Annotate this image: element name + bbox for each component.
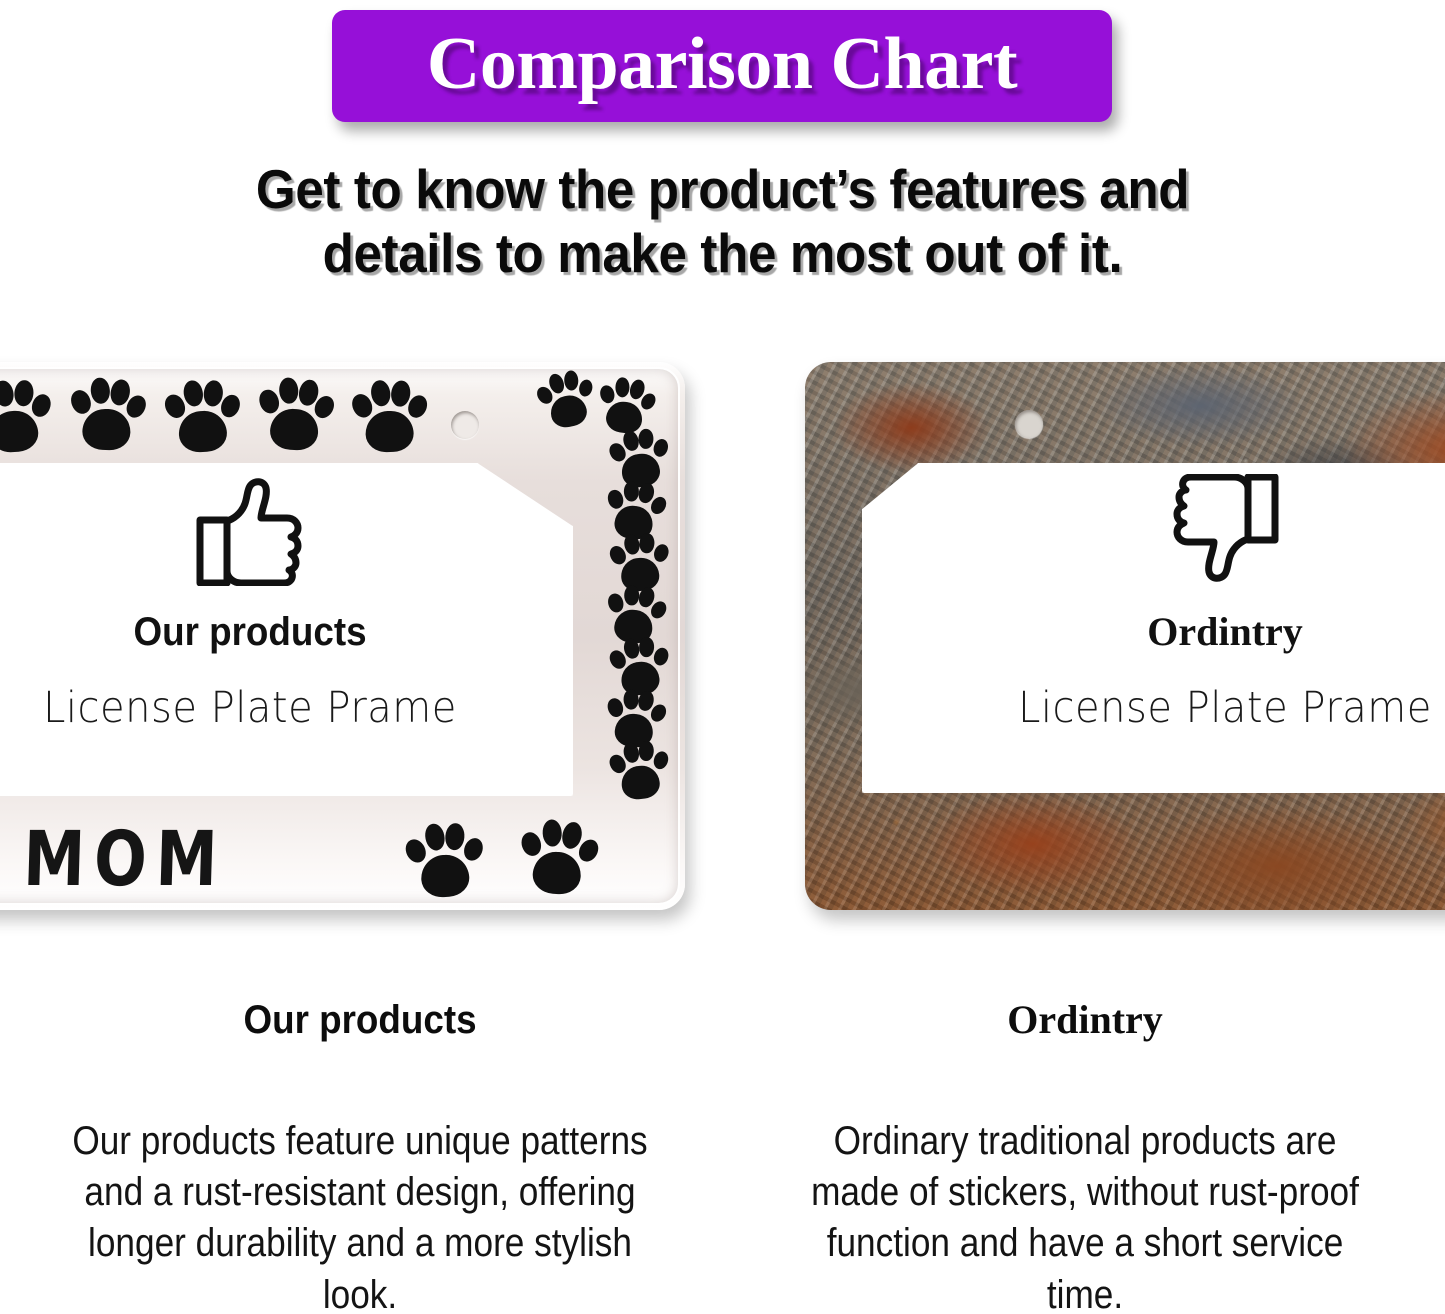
callout-title: Our products — [11, 612, 489, 652]
product-panel-ordinary: Ordintry License Plate Prame — [805, 362, 1445, 910]
page-title: Comparison Chart — [427, 27, 1017, 105]
thumbs-down-icon — [1166, 474, 1284, 586]
thumbs-up-icon — [191, 474, 309, 586]
callout-ours: Our products License Plate Prame — [0, 474, 510, 728]
paw-print-icon — [351, 377, 428, 456]
paw-print-icon — [0, 376, 53, 457]
license-plate-frame-chrome: DOG MOM Our products License Plate Prame — [0, 362, 685, 910]
license-plate-frame-rusted: Ordintry License Plate Prame — [805, 362, 1445, 910]
subheadline-line-1: Get to know the product’s features and — [153, 158, 1292, 222]
callout-ordinary: Ordintry License Plate Prame — [930, 474, 1445, 728]
plate-slogan-text: DOG MOM — [0, 814, 228, 903]
comparison-heading: Our products — [47, 1000, 673, 1040]
callout-subtitle: License Plate Prame — [930, 687, 1445, 729]
paw-print-icon — [69, 375, 146, 454]
comparison-column-ordinary: Ordintry Ordinary traditional products a… — [745, 1000, 1425, 1314]
callout-title: Ordintry — [930, 612, 1445, 652]
paw-print-icon — [517, 815, 598, 898]
comparison-body: Ordinary traditional products are made o… — [786, 1116, 1384, 1314]
title-banner: Comparison Chart — [332, 10, 1112, 122]
mounting-hole — [451, 411, 479, 439]
subheadline-line-2: details to make the most out of it. — [153, 222, 1292, 286]
comparison-chart-page: Comparison Chart Get to know the product… — [0, 0, 1445, 1314]
product-panel-ours: DOG MOM Our products License Plate Prame — [0, 362, 685, 910]
comparison-heading: Ordintry — [745, 1000, 1425, 1040]
paw-print-icon — [256, 374, 334, 454]
subheadline: Get to know the product’s features and d… — [153, 158, 1292, 286]
callout-subtitle: License Plate Prame — [0, 687, 510, 729]
paw-print-icon — [533, 365, 600, 433]
paw-print-icon — [607, 737, 672, 804]
mounting-hole — [1015, 410, 1043, 438]
paw-print-icon — [163, 376, 241, 456]
comparison-body: Our products feature unique patterns and… — [61, 1116, 659, 1314]
comparison-column-ours: Our products Our products feature unique… — [20, 1000, 700, 1314]
paw-print-icon — [403, 818, 484, 901]
